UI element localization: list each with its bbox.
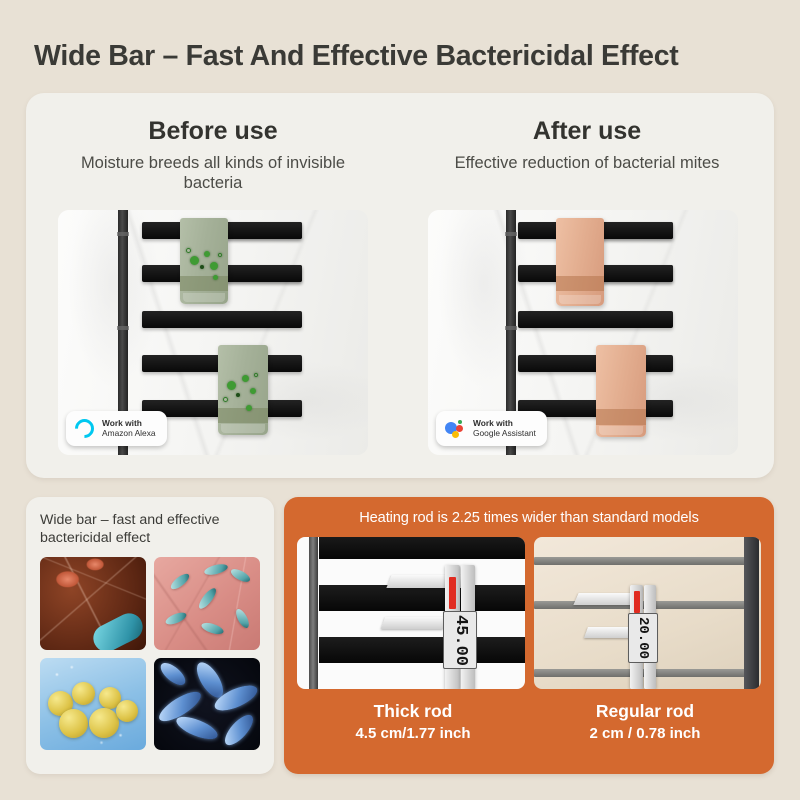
thick-rod-name: Thick rod xyxy=(297,701,529,722)
regular-rod-caption: Regular rod 2 cm / 0.78 inch xyxy=(529,701,761,742)
after-use-section: After use Effective reduction of bacteri… xyxy=(400,93,774,478)
microscope-cocci-yellow xyxy=(40,658,146,751)
bacteria-panel-title: Wide bar – fast and effective bactericid… xyxy=(40,511,260,547)
thick-rod-caption: Thick rod 4.5 cm/1.77 inch xyxy=(297,701,529,742)
thick-rod-dimension: 4.5 cm/1.77 inch xyxy=(297,725,529,742)
before-use-photo: Work with Amazon Alexa xyxy=(58,210,368,455)
after-use-title: After use xyxy=(400,117,774,146)
regular-rod-dimension: 2 cm / 0.78 inch xyxy=(529,725,761,742)
rod-comparison-panel: Heating rod is 2.25 times wider than sta… xyxy=(284,497,774,774)
google-badge-line2: Google Assistant xyxy=(473,428,536,438)
after-use-subtitle: Effective reduction of bacterial mites xyxy=(400,153,774,173)
after-use-photo: Work with Google Assistant xyxy=(428,210,738,455)
clean-towel xyxy=(596,345,646,437)
alexa-ring-icon xyxy=(71,415,98,442)
regular-rod-name: Regular rod xyxy=(529,701,761,722)
clean-towel xyxy=(556,218,604,306)
thick-rod-caliper-value: 45.00 xyxy=(451,614,470,665)
towel-with-bacteria xyxy=(180,218,228,304)
before-use-section: Before use Moisture breeds all kinds of … xyxy=(26,93,400,478)
microscope-image-grid xyxy=(40,557,260,750)
google-assistant-dots-icon xyxy=(445,419,465,438)
heated-bar xyxy=(600,222,673,239)
heated-bar xyxy=(518,311,673,328)
comparison-card: Before use Moisture breeds all kinds of … xyxy=(26,93,774,478)
heated-bar xyxy=(226,222,302,239)
rod-panel-title: Heating rod is 2.25 times wider than sta… xyxy=(297,510,761,526)
badge-google-assistant[interactable]: Work with Google Assistant xyxy=(436,411,547,447)
microscope-rods-blue xyxy=(154,658,260,751)
regular-rod-photo: 20.00 xyxy=(534,537,762,689)
before-use-subtitle: Moisture breeds all kinds of invisible b… xyxy=(26,153,400,193)
google-badge-line1: Work with xyxy=(473,418,536,429)
badge-amazon-alexa[interactable]: Work with Amazon Alexa xyxy=(66,411,167,447)
regular-rod-caliper-value: 20.00 xyxy=(635,617,651,659)
page-title: Wide Bar – Fast And Effective Bactericid… xyxy=(34,40,779,73)
microscope-bacilli-pink xyxy=(154,557,260,650)
towel-with-bacteria xyxy=(218,345,268,435)
microscope-bacillus-brown xyxy=(40,557,146,650)
heated-bar xyxy=(226,265,302,282)
heated-bar xyxy=(600,265,673,282)
bacteria-panel: Wide bar – fast and effective bactericid… xyxy=(26,497,274,774)
before-use-title: Before use xyxy=(26,117,400,146)
alexa-badge-line1: Work with xyxy=(102,418,156,429)
thick-rod-photo: 45.00 xyxy=(297,537,525,689)
alexa-badge-line2: Amazon Alexa xyxy=(102,428,156,438)
heated-bar xyxy=(142,311,302,328)
